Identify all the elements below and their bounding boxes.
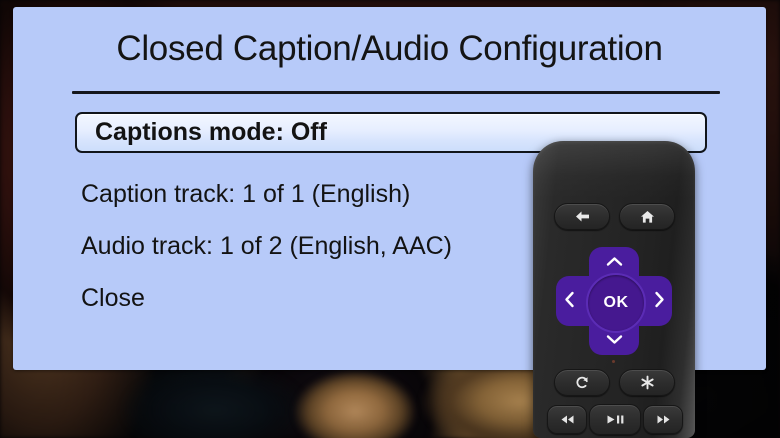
back-button[interactable] [554, 203, 610, 230]
menu-item-label: Close [81, 284, 145, 313]
back-arrow-icon [574, 210, 591, 223]
fast-forward-button[interactable] [643, 405, 683, 434]
chevron-down-icon [606, 333, 623, 348]
directional-pad: OK [556, 247, 672, 355]
chevron-left-icon [564, 291, 575, 311]
chevron-right-icon [654, 291, 665, 311]
home-icon [640, 210, 655, 224]
asterisk-icon [640, 375, 655, 390]
chevron-up-icon [606, 255, 623, 270]
home-button[interactable] [619, 203, 675, 230]
title-divider [72, 91, 720, 94]
dialog-title: Closed Caption/Audio Configuration [13, 29, 766, 69]
dpad-right-button[interactable] [648, 290, 670, 312]
ok-label: OK [604, 294, 629, 312]
play-pause-button[interactable] [589, 404, 641, 435]
menu-item-label: Audio track: 1 of 2 (English, AAC) [81, 232, 452, 261]
replay-button[interactable] [554, 369, 610, 396]
rewind-button[interactable] [547, 405, 587, 434]
menu-item-label: Captions mode: Off [95, 118, 327, 147]
roku-remote: OK [533, 141, 695, 438]
tv-screen: Closed Caption/Audio Configuration Capti… [0, 0, 780, 438]
menu-item-label: Caption track: 1 of 1 (English) [81, 180, 410, 209]
replay-icon [575, 375, 590, 390]
options-button[interactable] [619, 369, 675, 396]
fast-forward-icon [656, 414, 671, 425]
dpad-ok-button[interactable]: OK [586, 273, 646, 333]
play-pause-icon [606, 414, 625, 425]
dpad-up-button[interactable] [589, 251, 639, 273]
rewind-icon [560, 414, 575, 425]
dpad-left-button[interactable] [558, 290, 580, 312]
remote-indicator-dot [612, 360, 615, 363]
